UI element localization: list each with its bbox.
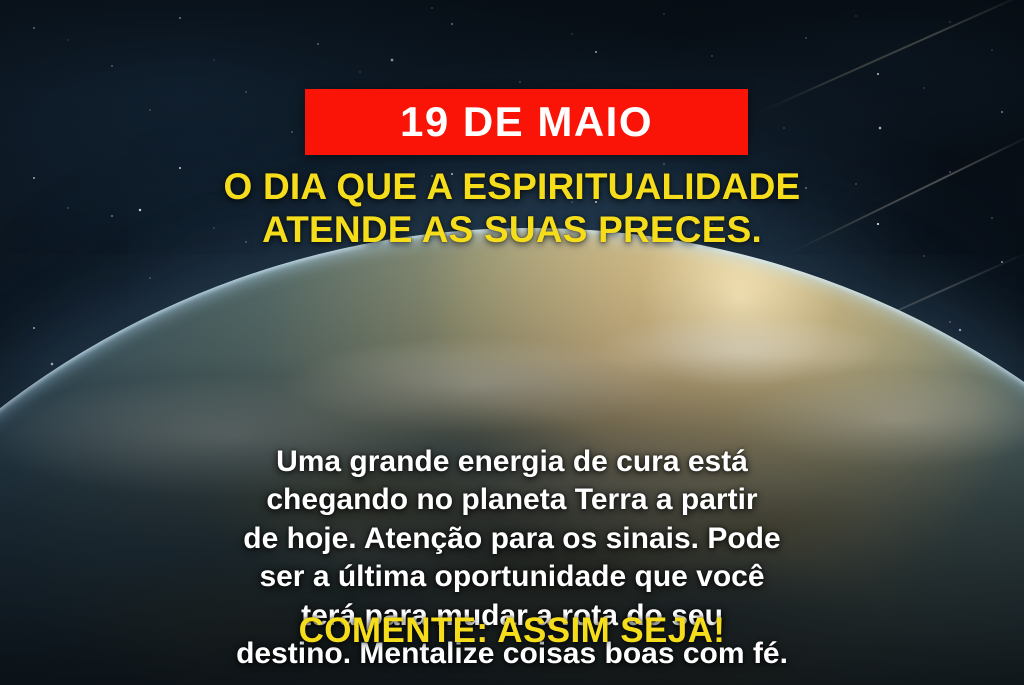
body-line-3: de hoje. Atenção para os sinais. Pode — [52, 520, 972, 558]
body-line-2: chegando no planeta Terra a partir — [52, 481, 972, 519]
headline-line-2: ATENDE AS SUAS PRECES. — [50, 209, 974, 252]
date-banner: 19 DE MAIO — [305, 89, 748, 155]
poster-content: 19 DE MAIO O DIA QUE A ESPIRITUALIDADE A… — [0, 0, 1024, 685]
poster-canvas: 19 DE MAIO O DIA QUE A ESPIRITUALIDADE A… — [0, 0, 1024, 685]
date-banner-label: 19 DE MAIO — [400, 101, 653, 143]
body-line-1: Uma grande energia de cura está — [52, 443, 972, 481]
call-to-action: COMENTE: ASSIM SEJA! — [0, 613, 1024, 648]
headline: O DIA QUE A ESPIRITUALIDADE ATENDE AS SU… — [0, 166, 1024, 252]
body-line-4: ser a última oportunidade que você — [52, 558, 972, 596]
headline-line-1: O DIA QUE A ESPIRITUALIDADE — [50, 166, 974, 209]
